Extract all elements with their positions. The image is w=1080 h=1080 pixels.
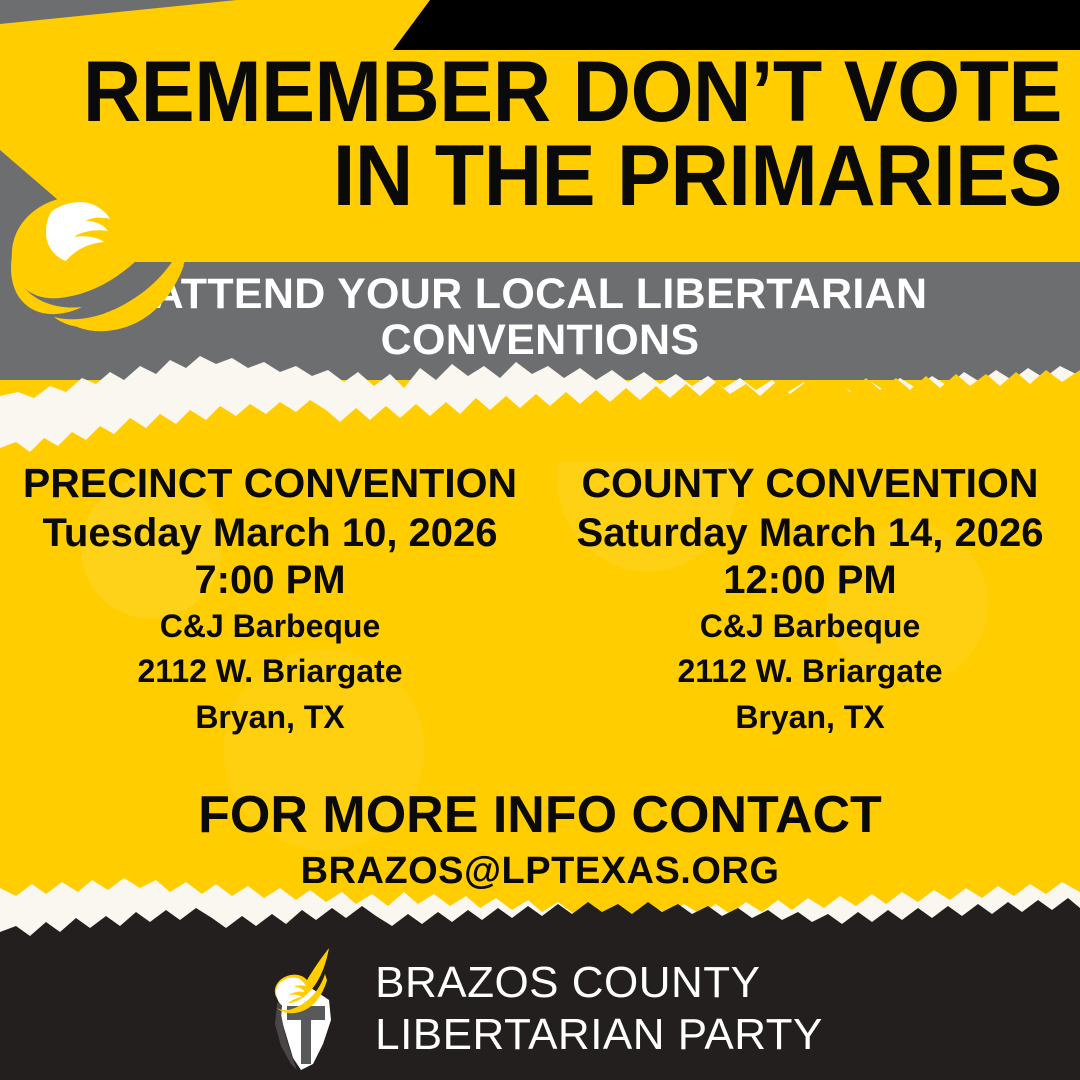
event-city: Bryan, TX — [540, 695, 1080, 740]
convention-columns: PRECINCT CONVENTION Tuesday March 10, 20… — [0, 462, 1080, 740]
event-title: PRECINCT CONVENTION — [0, 462, 540, 505]
headline-line-1: REMEMBER DON’T VOTE — [83, 44, 1062, 140]
event-street: 2112 W. Briargate — [0, 649, 540, 694]
event-venue: C&J Barbeque — [540, 604, 1080, 649]
event-date: Saturday March 14, 2026 — [540, 511, 1080, 556]
contact-block: FOR MORE INFO CONTACT BRAZOS@LPTEXAS.ORG — [0, 788, 1080, 900]
contact-heading: FOR MORE INFO CONTACT — [0, 788, 1080, 843]
event-column-county: COUNTY CONVENTION Saturday March 14, 202… — [540, 462, 1080, 740]
brazos-county-torch-eagle-logo — [257, 946, 353, 1072]
footer-org-name: BRAZOS COUNTY LIBERTARIAN PARTY — [375, 957, 823, 1061]
event-column-precinct: PRECINCT CONVENTION Tuesday March 10, 20… — [0, 462, 540, 740]
poster-canvas: REMEMBER DON’T VOTE IN THE PRIMARIES ATT… — [0, 0, 1080, 1080]
event-date: Tuesday March 10, 2026 — [0, 511, 540, 556]
footer-org-line-2: LIBERTARIAN PARTY — [375, 1009, 823, 1061]
event-time: 7:00 PM — [0, 556, 540, 604]
footer-branding: BRAZOS COUNTY LIBERTARIAN PARTY — [0, 938, 1080, 1080]
event-venue: C&J Barbeque — [0, 604, 540, 649]
event-city: Bryan, TX — [0, 695, 540, 740]
event-street: 2112 W. Briargate — [540, 649, 1080, 694]
event-time: 12:00 PM — [540, 556, 1080, 604]
torn-paper-edge-top — [0, 352, 1080, 462]
footer-org-line-1: BRAZOS COUNTY — [375, 957, 823, 1009]
libertarian-eagle-icon — [4, 135, 219, 345]
contact-email[interactable]: BRAZOS@LPTEXAS.ORG — [0, 843, 1080, 900]
event-title: COUNTY CONVENTION — [540, 462, 1080, 505]
